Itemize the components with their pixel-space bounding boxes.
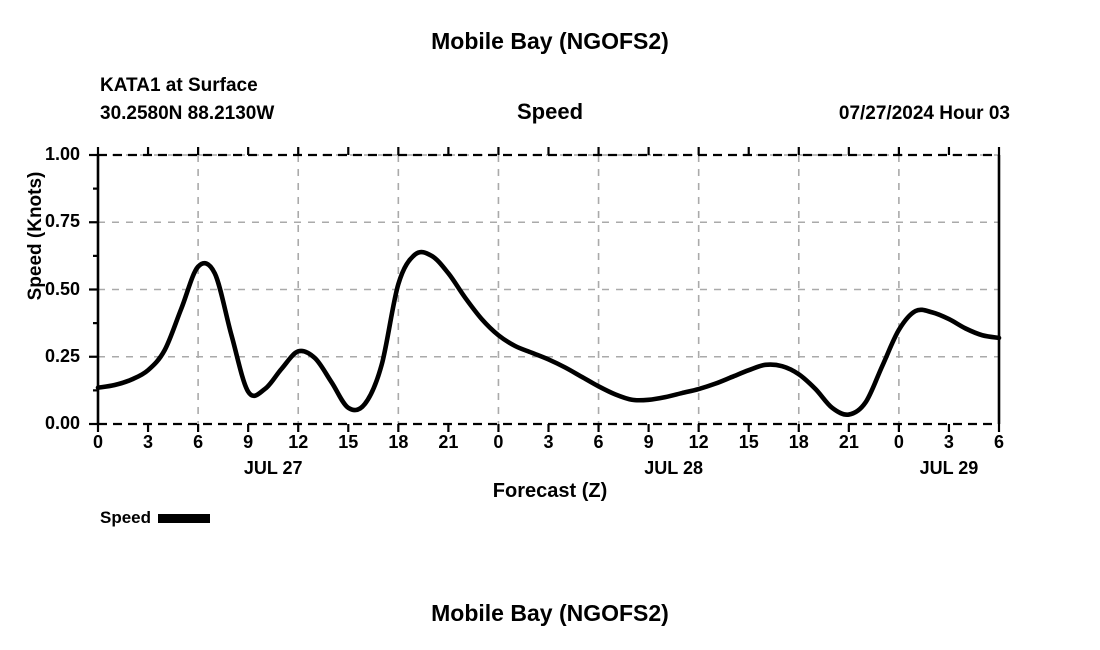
x-tick-label: 0 [478,432,518,453]
day-label: JUL 28 [614,458,734,479]
x-tick-label: 6 [979,432,1019,453]
legend-swatch-speed [158,514,210,523]
gridlines [98,155,999,424]
x-tick-label: 3 [929,432,969,453]
x-tick-label: 3 [128,432,168,453]
y-tick-label: 0.75 [24,211,80,232]
y-tick-label: 0.25 [24,346,80,367]
x-tick-label: 0 [78,432,118,453]
day-label: JUL 27 [213,458,333,479]
x-tick-label: 21 [428,432,468,453]
x-tick-label: 15 [328,432,368,453]
speed-series-line [98,252,999,415]
x-tick-label: 6 [579,432,619,453]
x-tick-label: 12 [679,432,719,453]
x-tick-label: 21 [829,432,869,453]
x-tick-label: 18 [779,432,819,453]
page-title-bottom: Mobile Bay (NGOFS2) [0,600,1100,627]
x-tick-label: 9 [629,432,669,453]
x-tick-label: 6 [178,432,218,453]
legend: Speed [100,508,210,528]
x-tick-label: 15 [729,432,769,453]
x-tick-label: 3 [529,432,569,453]
day-label: JUL 29 [889,458,1009,479]
y-tick-label: 0.00 [24,413,80,434]
x-tick-label: 12 [278,432,318,453]
y-tick-label: 1.00 [24,144,80,165]
chart-page: Mobile Bay (NGOFS2) KATA1 at Surface 30.… [0,0,1100,650]
y-tick-label: 0.50 [24,279,80,300]
speed-time-series-plot [0,0,1100,650]
legend-label: Speed [100,508,151,528]
x-tick-label: 0 [879,432,919,453]
x-tick-label: 9 [228,432,268,453]
x-tick-label: 18 [378,432,418,453]
